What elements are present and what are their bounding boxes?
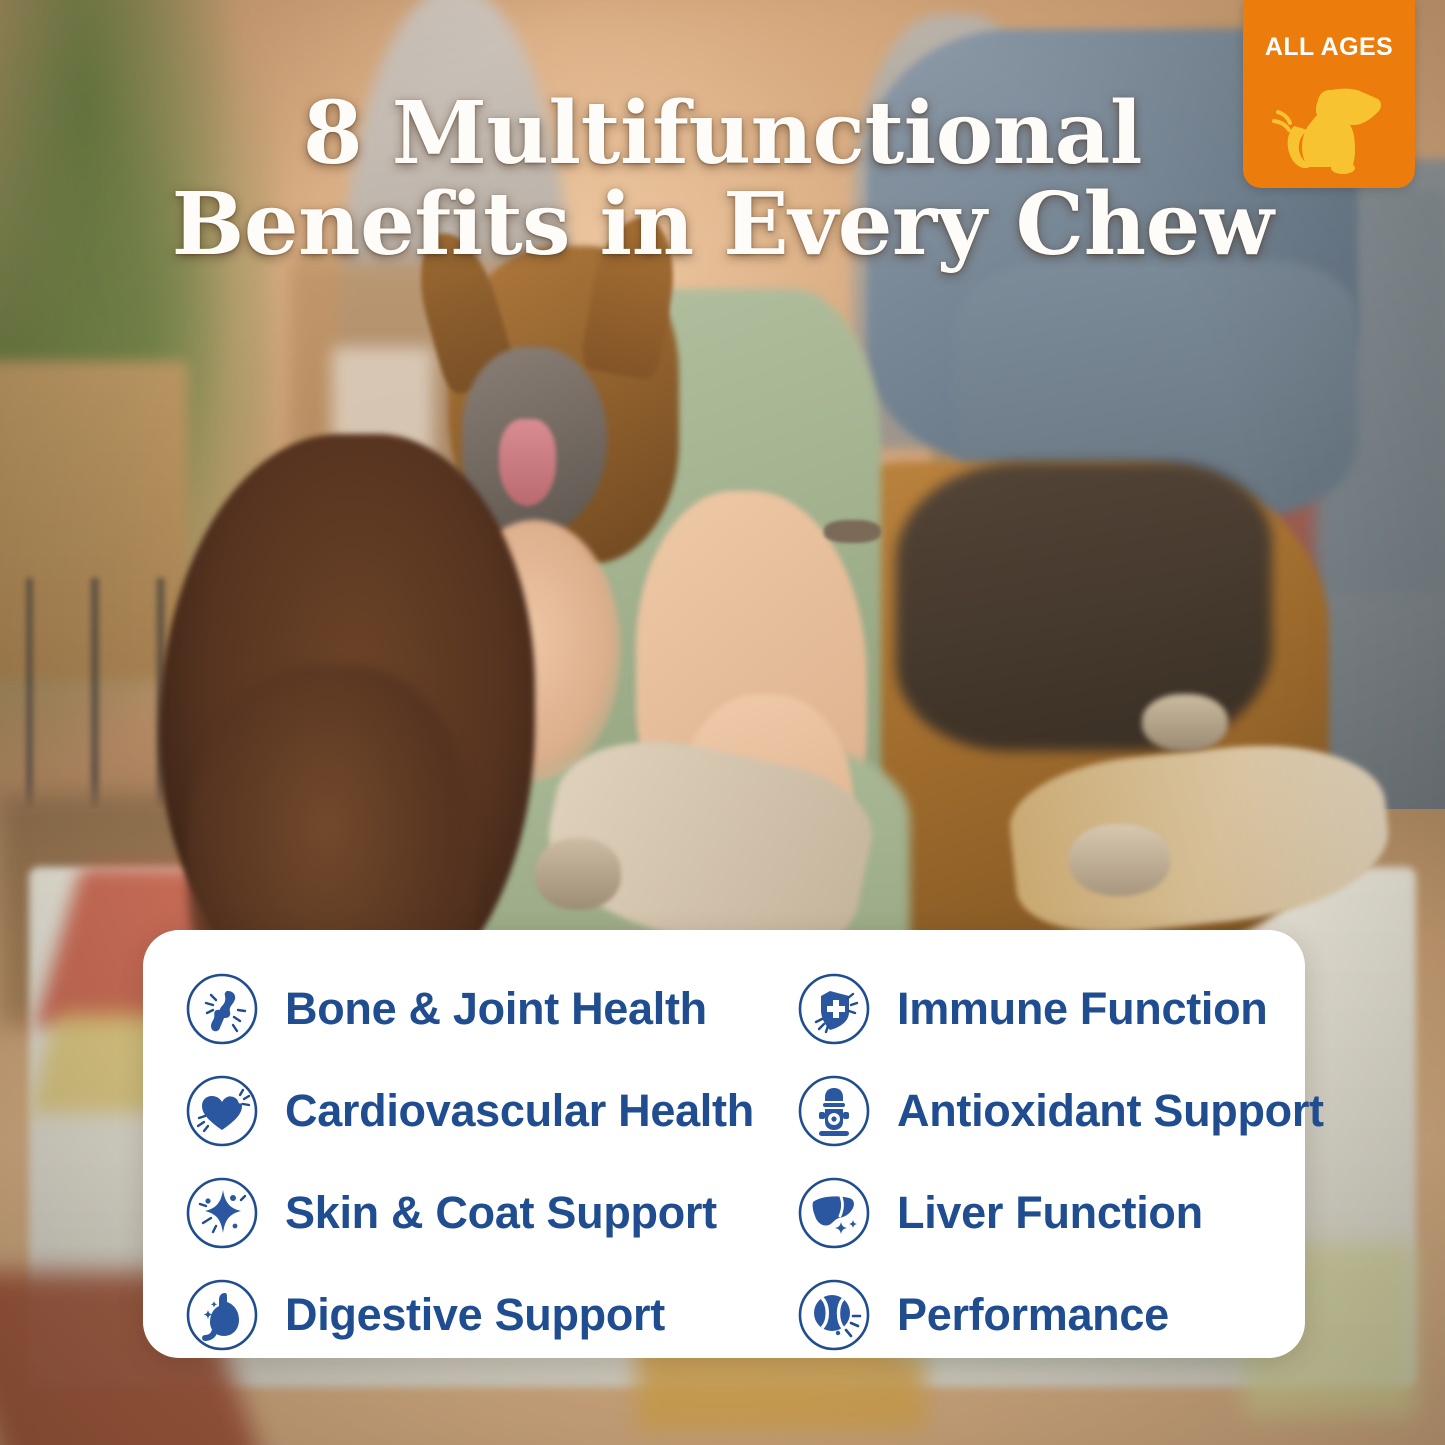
benefit-item-cardiovascular-health: Cardiovascular Health	[185, 1060, 797, 1162]
benefits-card: Bone & Joint Health Immune Function	[143, 930, 1305, 1358]
bone-joint-icon	[185, 972, 259, 1046]
benefit-item-antioxidant-support: Antioxidant Support	[797, 1060, 1347, 1162]
benefit-label: Performance	[897, 1289, 1169, 1341]
benefit-label: Bone & Joint Health	[285, 983, 707, 1035]
benefit-label: Liver Function	[897, 1187, 1203, 1239]
benefit-item-bone-joint-health: Bone & Joint Health	[185, 958, 797, 1060]
benefit-label: Digestive Support	[285, 1289, 665, 1341]
benefit-item-skin-coat-support: Skin & Coat Support	[185, 1162, 797, 1264]
benefits-grid: Bone & Joint Health Immune Function	[143, 958, 1305, 1366]
stomach-icon	[185, 1278, 259, 1352]
shield-plus-icon	[797, 972, 871, 1046]
benefit-label: Cardiovascular Health	[285, 1085, 754, 1137]
sitting-dog-silhouette-icon	[1270, 68, 1388, 180]
benefit-item-immune-function: Immune Function	[797, 958, 1347, 1060]
benefit-label: Skin & Coat Support	[285, 1187, 717, 1239]
headline-line-1: 8 Multifunctional	[303, 83, 1142, 184]
tennis-ball-icon	[797, 1278, 871, 1352]
benefit-item-performance: Performance	[797, 1264, 1347, 1366]
liver-icon	[797, 1176, 871, 1250]
benefit-item-digestive-support: Digestive Support	[185, 1264, 797, 1366]
all-ages-badge: ALL AGES	[1243, 0, 1415, 188]
page-title: 8 Multifunctional Benefits in Every Chew	[0, 88, 1445, 270]
fire-hydrant-icon	[797, 1074, 871, 1148]
heart-icon	[185, 1074, 259, 1148]
benefit-label: Immune Function	[897, 983, 1268, 1035]
all-ages-label: ALL AGES	[1265, 33, 1393, 62]
headline-line-2: Benefits in Every Chew	[120, 179, 1325, 270]
sparkle-icon	[185, 1176, 259, 1250]
benefit-item-liver-function: Liver Function	[797, 1162, 1347, 1264]
benefit-label: Antioxidant Support	[897, 1085, 1324, 1137]
